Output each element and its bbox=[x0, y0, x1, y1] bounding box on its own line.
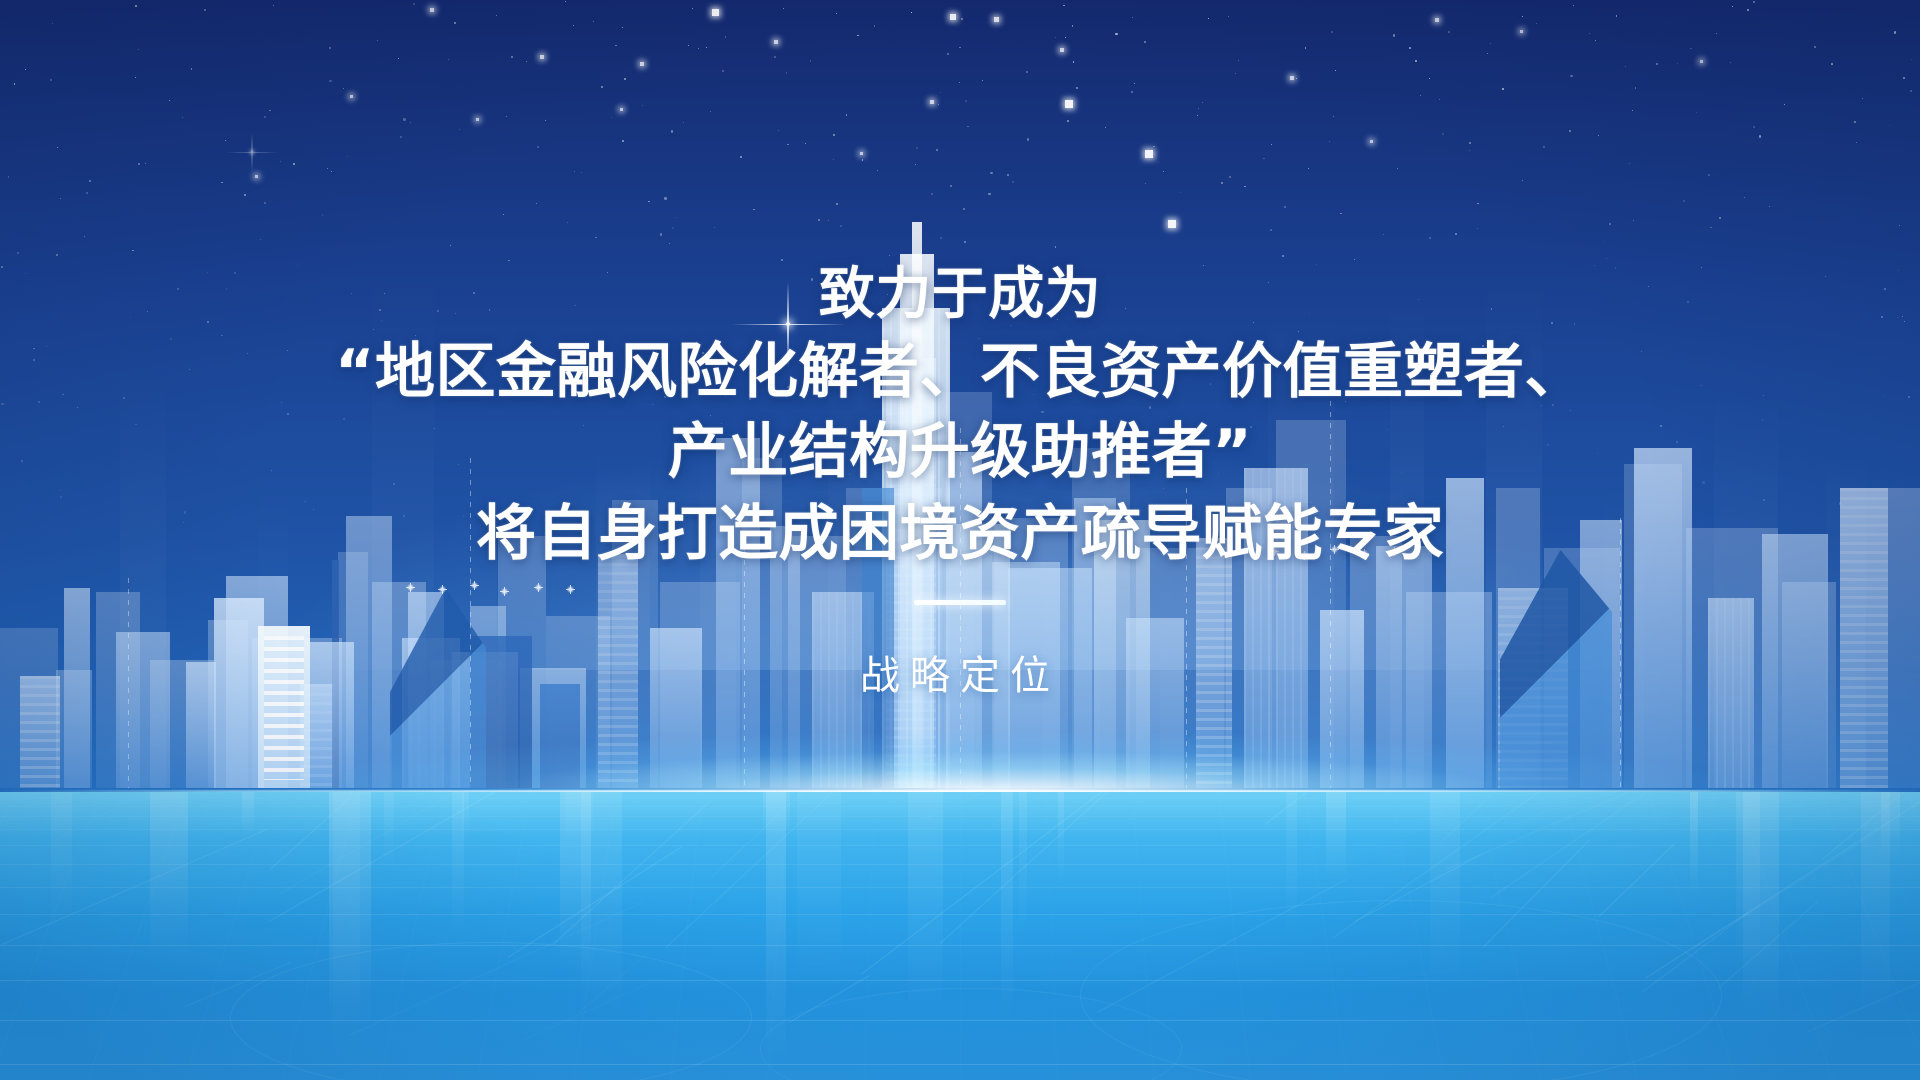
reflective-floor bbox=[0, 792, 1920, 1080]
city-skyline bbox=[0, 228, 1920, 788]
slide-canvas: 致力于成为 “地区金融风险化解者、不良资产价值重塑者、 产业结构升级助推者” 将… bbox=[0, 0, 1920, 1080]
